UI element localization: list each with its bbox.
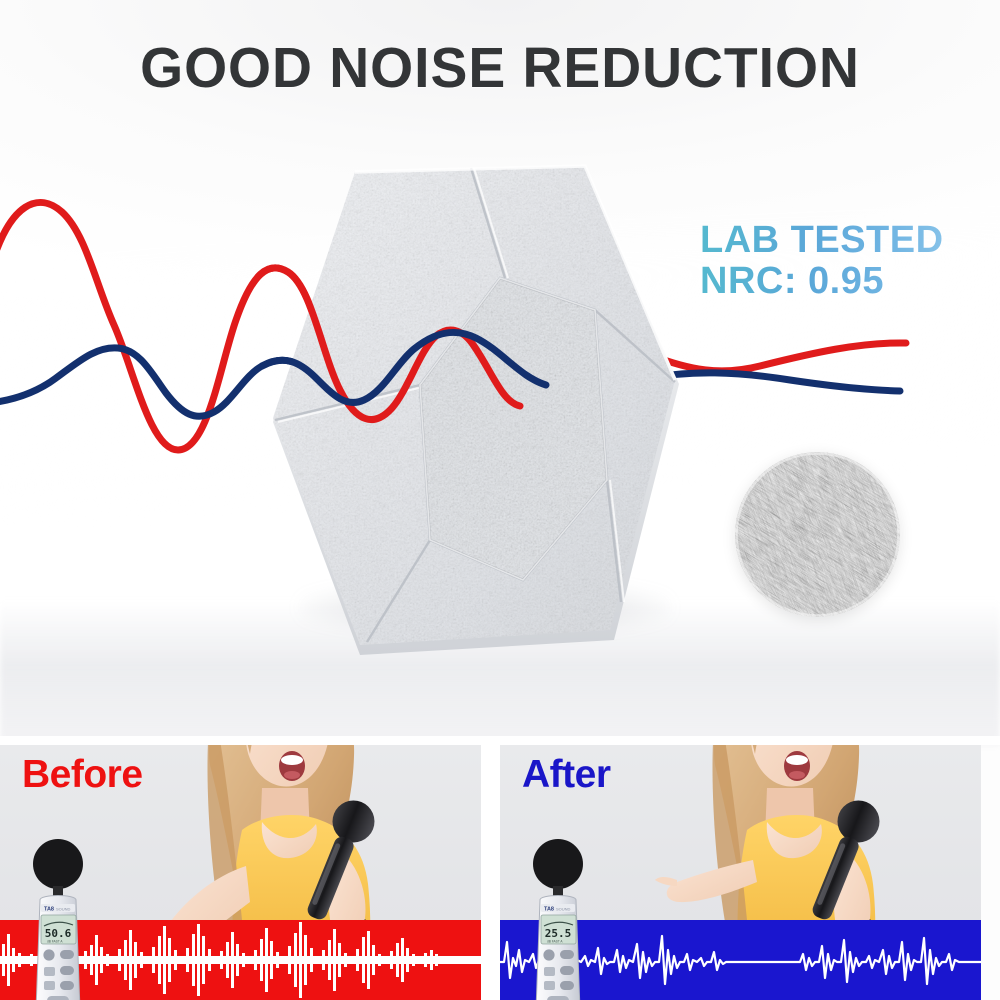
meter-reading: 50.6: [45, 927, 72, 940]
meter-reading: 25.5: [545, 927, 572, 940]
compare-top-separator: [0, 736, 1000, 745]
before-sound-level-meter: TA8 SOUND 50.6 dB FAST A: [22, 838, 94, 1000]
product-infographic: GOOD NOISE REDUCTION: [0, 0, 1000, 1000]
acoustic-panel: [255, 150, 710, 670]
lab-tested-line1: LAB TESTED: [700, 220, 960, 261]
svg-text:SOUND: SOUND: [56, 907, 71, 912]
svg-text:TA8: TA8: [44, 907, 54, 913]
before-card: TA8 SOUND 50.6 dB FAST A B: [0, 745, 481, 1000]
svg-text:TA8: TA8: [544, 907, 554, 913]
before-after-comparison: TA8 SOUND 50.6 dB FAST A B: [0, 745, 1000, 1000]
meter-windscreen: [533, 839, 583, 889]
meter-windscreen: [33, 839, 83, 889]
before-label: Before: [22, 753, 143, 797]
after-card: TA8 SOUND 25.5 dB FAST A After: [500, 745, 981, 1000]
lab-tested-line2: NRC: 0.95: [700, 261, 960, 302]
svg-text:dB FAST A: dB FAST A: [47, 940, 63, 944]
lab-tested-badge: LAB TESTED NRC: 0.95: [700, 220, 960, 301]
after-sound-level-meter: TA8 SOUND 25.5 dB FAST A: [522, 838, 594, 1000]
page-title: GOOD NOISE REDUCTION: [15, 40, 985, 97]
svg-text:SOUND: SOUND: [556, 907, 571, 912]
after-label: After: [522, 753, 611, 797]
hexagon-panel-graphic: [255, 150, 710, 670]
svg-text:dB FAST A: dB FAST A: [547, 940, 563, 944]
fiber-closeup-circle: [735, 452, 900, 617]
comparison-divider: [481, 745, 500, 1000]
